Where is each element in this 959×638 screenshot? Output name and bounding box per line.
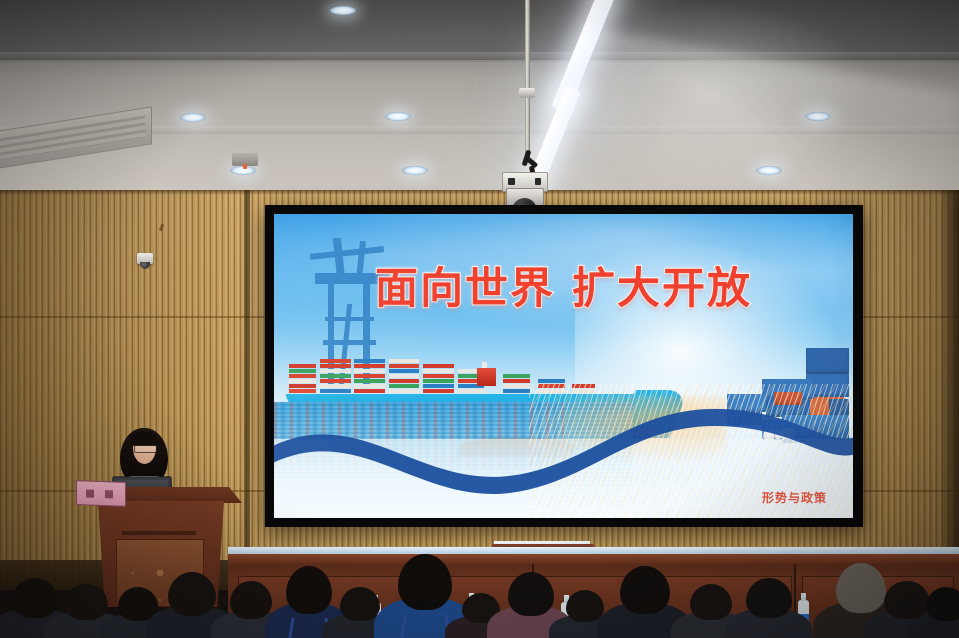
- attendee-head: [690, 584, 732, 620]
- downlight-icon: [180, 113, 206, 122]
- downlight-icon: [805, 112, 831, 121]
- attendee-head: [64, 584, 108, 620]
- dome-camera-icon: [137, 253, 153, 264]
- attendee-head: [286, 566, 332, 614]
- pole-joint: [519, 88, 535, 98]
- downlight-icon: [756, 166, 782, 175]
- attendee-head: [620, 566, 670, 614]
- ship-bridge: [477, 368, 496, 386]
- attendee-head: [566, 590, 604, 622]
- camera-mount-pole: [525, 0, 530, 162]
- podium-groove: [122, 531, 196, 535]
- led-video-wall[interactable]: COSCO SHIPPING 面向世界 扩大开放 形势与政策: [265, 205, 863, 527]
- slide-title: 面向世界 扩大开放: [274, 254, 853, 316]
- wall-top-edge: [0, 190, 959, 195]
- ceiling: [0, 0, 959, 196]
- attendee-head: [168, 572, 216, 616]
- attendee-head: [836, 563, 886, 613]
- presentation-slide: COSCO SHIPPING 面向世界 扩大开放 形势与政策: [274, 214, 853, 518]
- attendee-head: [926, 587, 959, 621]
- downlight-icon: [385, 112, 411, 121]
- attendee-head: [746, 578, 792, 618]
- attendee-head: [884, 581, 930, 619]
- attendee-head: [230, 581, 272, 619]
- glasses-icon: [134, 445, 157, 453]
- slide-footer-text: 形势与政策: [762, 489, 827, 506]
- lecture-hall-photo: COSCO SHIPPING 面向世界 扩大开放 形势与政策: [0, 0, 959, 638]
- wall-panel-gap: [244, 190, 250, 590]
- downlight-icon: [330, 6, 356, 15]
- attendee-head: [12, 578, 58, 618]
- ceiling-beam: [0, 52, 959, 62]
- podium-name-card: [76, 480, 126, 507]
- smoke-detector-icon: [232, 153, 258, 166]
- attendee-head: [340, 587, 380, 621]
- attendee-head: [508, 572, 554, 616]
- attendee-head: [398, 554, 452, 610]
- camera-arm: [512, 150, 542, 174]
- audience: [0, 560, 959, 638]
- ceiling-back-plane: [0, 0, 959, 60]
- wall-edge-shadow: [939, 190, 959, 590]
- ceiling-air-vent: [0, 106, 152, 169]
- downlight-icon: [402, 166, 428, 175]
